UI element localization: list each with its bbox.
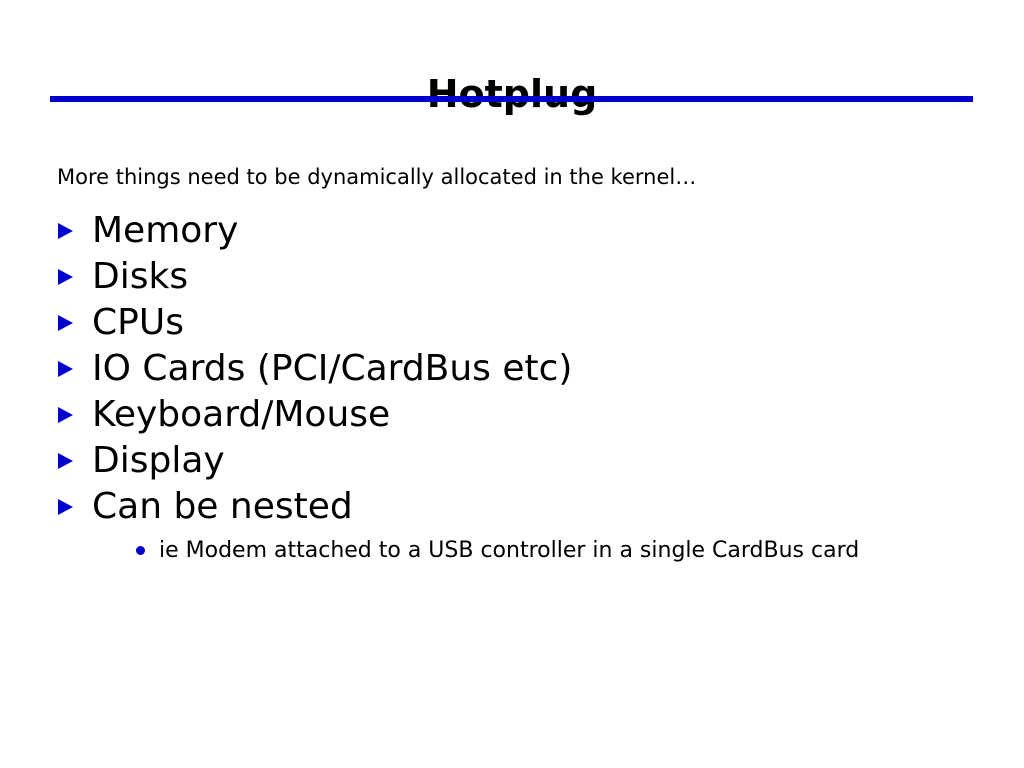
sub-bullet-list: ie Modem attached to a USB controller in… <box>92 532 1000 570</box>
sub-list-item: ie Modem attached to a USB controller in… <box>92 532 994 570</box>
list-item-label: Can be nested <box>92 484 353 530</box>
bullet-list: Memory Disks CPUs IO Cards (PCI/CardBus … <box>50 208 1000 570</box>
list-item: Display <box>50 438 1000 484</box>
list-item: Keyboard/Mouse <box>50 392 1000 438</box>
triangle-right-bullet-icon <box>58 269 73 285</box>
triangle-right-bullet-icon <box>58 223 73 239</box>
slide-canvas: Hotplug More things need to be dynamical… <box>0 0 1024 768</box>
triangle-right-bullet-icon <box>58 361 73 377</box>
list-item-label: Disks <box>92 254 188 300</box>
triangle-right-bullet-icon <box>58 499 73 515</box>
list-item: Can be nested ie Modem attached to a USB… <box>50 484 1000 570</box>
list-item: Memory <box>50 208 1000 254</box>
dot-bullet-icon <box>136 546 145 555</box>
slide-body: More things need to be dynamically alloc… <box>0 0 1024 768</box>
list-item: CPUs <box>50 300 1000 346</box>
list-item-label: Display <box>92 438 225 484</box>
triangle-right-bullet-icon <box>58 453 73 469</box>
triangle-right-bullet-icon <box>58 407 73 423</box>
triangle-right-bullet-icon <box>58 315 73 331</box>
list-item-label: Keyboard/Mouse <box>92 392 390 438</box>
lead-paragraph: More things need to be dynamically alloc… <box>57 164 957 191</box>
list-item-label: Memory <box>92 208 238 254</box>
list-item: Disks <box>50 254 1000 300</box>
list-item: IO Cards (PCI/CardBus etc) <box>50 346 1000 392</box>
sub-list-item-label: ie Modem attached to a USB controller in… <box>159 532 994 570</box>
list-item-label: CPUs <box>92 300 184 346</box>
list-item-label: IO Cards (PCI/CardBus etc) <box>92 346 572 392</box>
